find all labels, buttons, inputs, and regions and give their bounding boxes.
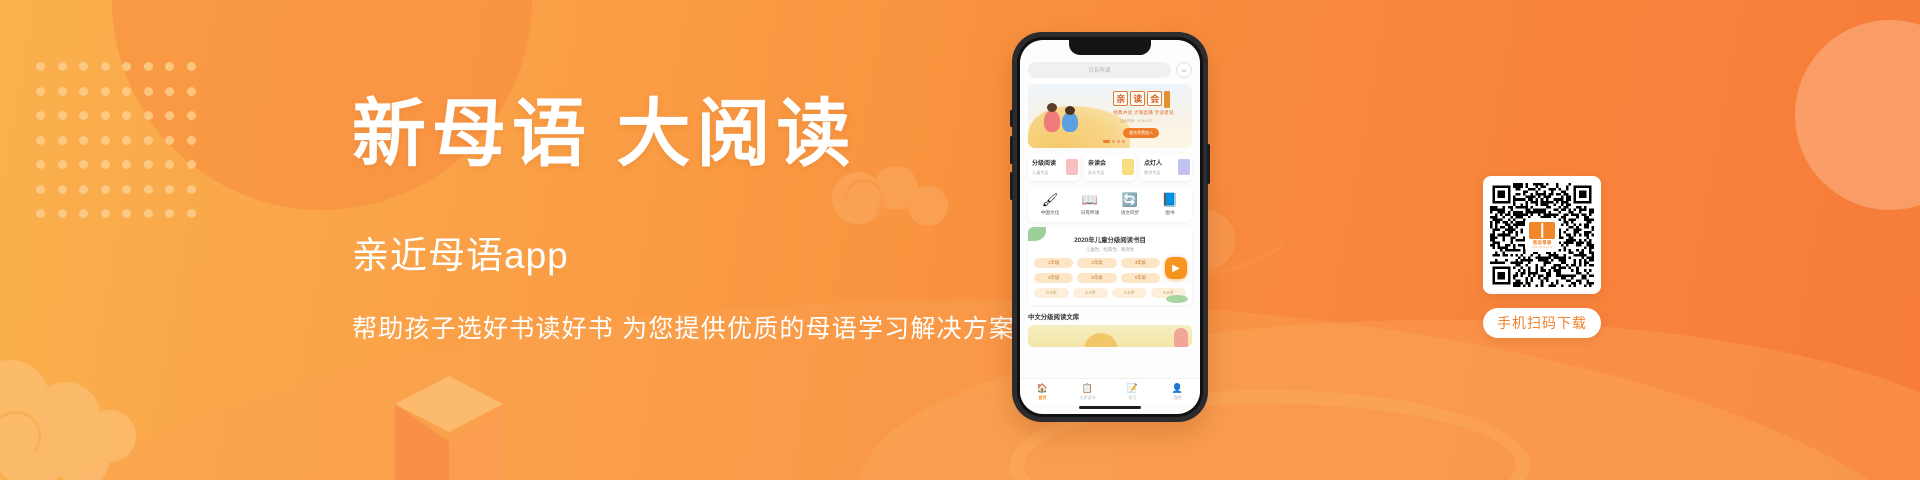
phone-mockup: 日有所诵 ●● 亲 读 会 经典共读 大咖直播 亲读者说 [1012, 32, 1208, 422]
grade-chip[interactable]: 4年级 [1034, 273, 1073, 283]
promo-cta-button[interactable]: 报名免费加入 [1123, 128, 1159, 138]
promo-kid-red-icon [1044, 110, 1060, 132]
hero-copy: 新母语 大阅读 亲近母语app 帮助孩子选好书读好书 为您提供优质的母语学习解决… [352, 92, 1012, 345]
grade-chip[interactable]: 3年级 [1121, 258, 1160, 268]
download-block: 亲近母语 QINJIN MUYU 手机扫码下载 [1483, 176, 1601, 338]
qr-code-container: 亲近母语 QINJIN MUYU [1483, 176, 1601, 294]
tab-首页[interactable]: 🏠首页 [1020, 384, 1065, 401]
category-card[interactable]: 亲读会家长专区 [1084, 153, 1136, 181]
decorative-dot-grid [36, 62, 208, 234]
bottom-tab-bar: 🏠首页📋小步读书📝学习👤我的 [1020, 378, 1200, 405]
library-card-arc [1084, 333, 1118, 347]
grade-chip[interactable]: 2年级 [1077, 258, 1116, 268]
leaf-decor-bottom-icon [1166, 295, 1188, 303]
tab-学习[interactable]: 📝学习 [1110, 384, 1155, 401]
age-chip-row: 0-3岁3-4岁4-5岁5-6岁 [1034, 288, 1186, 298]
promo-title-char: 亲 [1113, 91, 1128, 106]
phone-notch [1069, 40, 1151, 55]
phone-screen: 日有所诵 ●● 亲 读 会 经典共读 大咖直播 亲读者说 [1020, 40, 1200, 414]
tab-我的[interactable]: 👤我的 [1155, 384, 1200, 401]
open-book-logo-icon [1529, 222, 1555, 239]
sync-icon: 🔄 [1110, 193, 1150, 206]
tab-小步读书[interactable]: 📋小步读书 [1065, 384, 1110, 401]
promo-date: 活动时间：9.16-9.27 [1120, 119, 1153, 124]
promo-title: 亲 读 会 [1113, 91, 1170, 108]
library-card-book-icon [1174, 328, 1188, 347]
booklist-title: 2020年儿童分级阅读书目 [1034, 235, 1186, 244]
category-card-icon [1178, 159, 1190, 175]
quick-icon-item[interactable]: 🔄语文同步 [1110, 193, 1150, 216]
category-card-icon [1122, 159, 1134, 175]
page-title: 新母语 大阅读 [352, 92, 1012, 179]
tab-label: 首页 [1020, 395, 1065, 401]
quick-icon-label: 中国文化 [1030, 210, 1070, 216]
video-play-button[interactable]: ▶ [1165, 257, 1187, 279]
brand-logo: 亲近母语 QINJIN MUYU [1525, 218, 1559, 252]
open-book-icon: 📖 [1070, 193, 1110, 206]
grade-chip[interactable]: 1年级 [1034, 258, 1073, 268]
tab-icon: 📋 [1065, 384, 1110, 393]
booklist-subtitle: 儿童性、经典性、教育性 [1034, 247, 1186, 253]
app-search-bar[interactable]: 日有所诵 ●● [1028, 62, 1192, 78]
quick-icon-label: 语文同步 [1110, 210, 1150, 216]
library-card[interactable] [1028, 325, 1192, 347]
age-chip[interactable]: 4-5岁 [1112, 288, 1147, 298]
promo-title-char: 读 [1130, 91, 1145, 106]
decorative-cube [395, 376, 503, 480]
tab-icon: 🏠 [1020, 384, 1065, 393]
quick-icon-row: 🖌中国文化📖日有所诵🔄语文同步📘图书 [1028, 186, 1192, 222]
tab-label: 我的 [1155, 395, 1200, 401]
app-home-screen: 日有所诵 ●● 亲 读 会 经典共读 大咖直播 亲读者说 [1020, 40, 1200, 347]
promo-subtitle: 经典共读 大咖直播 亲读者说 [1113, 110, 1173, 116]
qr-code: 亲近母语 QINJIN MUYU [1490, 183, 1594, 287]
quick-icon-label: 图书 [1150, 210, 1190, 216]
promo-carousel-dots[interactable] [1103, 140, 1125, 143]
quick-icon-item[interactable]: 📖日有所诵 [1070, 193, 1110, 216]
avatar[interactable]: ●● [1176, 62, 1192, 78]
hero-tagline: 帮助孩子选好书读好书 为您提供优质的母语学习解决方案 [352, 309, 1012, 345]
age-chip[interactable]: 0-3岁 [1034, 288, 1069, 298]
quick-icon-label: 日有所诵 [1070, 210, 1110, 216]
promo-banner[interactable]: 亲 读 会 经典共读 大咖直播 亲读者说 活动时间：9.16-9.27 报名免费… [1028, 84, 1192, 148]
quick-icon-item[interactable]: 📘图书 [1150, 193, 1190, 216]
phone-power-button [1207, 144, 1210, 184]
promo-title-char: 会 [1147, 91, 1162, 106]
decorative-circle-top-right [1795, 20, 1920, 210]
age-chip[interactable]: 3-4岁 [1073, 288, 1108, 298]
promo-kid-blue-icon [1062, 112, 1078, 132]
category-card-icon [1066, 159, 1078, 175]
books-icon: 📘 [1150, 193, 1190, 206]
scan-to-download-button[interactable]: 手机扫码下载 [1483, 308, 1601, 338]
hero-subtitle: 亲近母语app [352, 225, 1012, 279]
category-card[interactable]: 分级阅读儿童专区 [1028, 153, 1080, 181]
search-input[interactable]: 日有所诵 [1028, 62, 1171, 78]
library-section-heading: 中文分级阅读文库 [1028, 312, 1192, 321]
grade-chip[interactable]: 6年级 [1121, 273, 1160, 283]
tab-icon: 👤 [1155, 384, 1200, 393]
grade-chip-row-1: 1年级2年级3年级 [1034, 258, 1186, 268]
quick-icon-item[interactable]: 🖌中国文化 [1030, 193, 1070, 216]
promotional-banner: 新母语 大阅读 亲近母语app 帮助孩子选好书读好书 为您提供优质的母语学习解决… [0, 0, 1920, 480]
category-card[interactable]: 点灯人教师专区 [1140, 153, 1192, 181]
grade-chip-row-2: 4年级5年级6年级 [1034, 273, 1186, 283]
tab-label: 学习 [1110, 395, 1155, 401]
ink-brush-icon: 🖌 [1030, 193, 1070, 206]
home-indicator [1079, 406, 1141, 409]
grade-chip[interactable]: 5年级 [1077, 273, 1116, 283]
tab-icon: 📝 [1110, 384, 1155, 393]
phone-volume-down-button [1010, 172, 1013, 200]
decorative-cloud-bottom-left [0, 338, 200, 480]
phone-mute-switch [1010, 110, 1013, 127]
promo-title-tag [1164, 91, 1170, 108]
tab-label: 小步读书 [1065, 395, 1110, 401]
booklist-card[interactable]: 2020年儿童分级阅读书目 儿童性、经典性、教育性 1年级2年级3年级 4年级5… [1028, 227, 1192, 305]
logo-subtitle: QINJIN MUYU [1532, 246, 1552, 249]
phone-volume-up-button [1010, 136, 1013, 164]
category-card-list: 分级阅读儿童专区亲读会家长专区点灯人教师专区 [1028, 153, 1192, 181]
